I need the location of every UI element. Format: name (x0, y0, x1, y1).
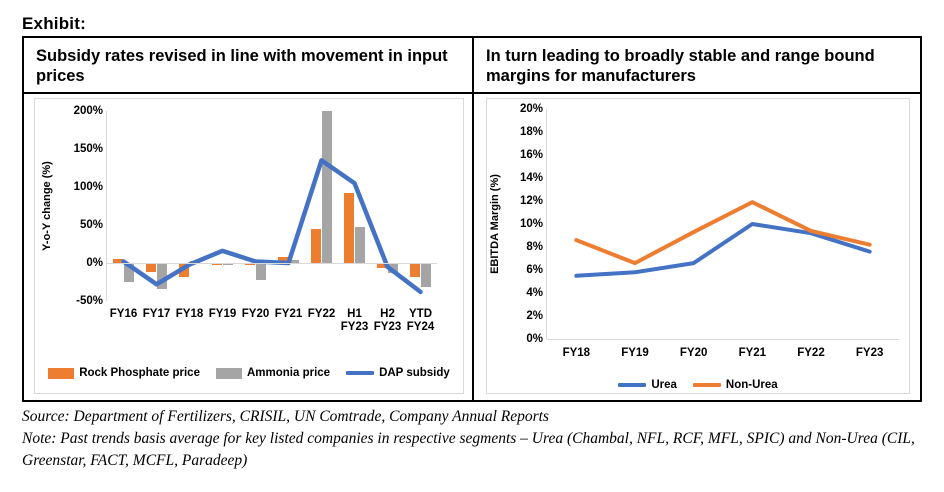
x-tick-line: FY23 (374, 321, 402, 333)
x-tick-line: FY21 (739, 347, 767, 359)
x-tick-line: FY18 (563, 347, 591, 359)
exhibit-frame: Subsidy rates revised in line with movem… (22, 36, 922, 402)
panel-left-title: Subsidy rates revised in line with movem… (24, 38, 472, 94)
y-axis-line (106, 111, 107, 301)
y-tick-label: 6% (526, 264, 543, 276)
x-tick-line: FY20 (680, 347, 708, 359)
legend-line-swatch (693, 383, 721, 387)
footer-source: Source: Department of Fertilizers, CRISI… (22, 406, 926, 428)
x-tick-line: FY21 (275, 308, 303, 320)
x-tick-label: FY19 (206, 308, 239, 321)
x-tick-label: YTDFY24 (404, 308, 437, 334)
x-tick-label: FY18 (547, 347, 606, 360)
legend-label: Rock Phosphate price (79, 367, 200, 379)
legend-label: Non-Urea (726, 379, 778, 391)
left-chart-plot-area (107, 111, 437, 301)
legend-bar-swatch (48, 368, 74, 379)
legend-line-swatch (346, 371, 374, 375)
right-chart-y-ticks: 0%2%4%6%8%10%12%14%16%18%20% (487, 109, 543, 339)
x-tick-label: FY21 (723, 347, 782, 360)
y-tick-label: 0% (86, 257, 103, 269)
right-chart-x-ticks: FY18FY19FY20FY21FY22FY23 (547, 347, 899, 381)
legend-item-non-urea[interactable]: Non-Urea (693, 379, 778, 391)
right-chart-legend: UreaNon-Urea (487, 379, 909, 391)
left-chart-x-ticks: FY16FY17FY18FY19FY20FY21FY22H1FY23H2FY23… (107, 308, 437, 342)
x-tick-label: H2FY23 (371, 308, 404, 334)
exhibit-label: Exhibit: (22, 14, 86, 34)
y-axis-line (546, 109, 547, 339)
y-tick-label: 10% (520, 218, 543, 230)
x-tick-line: FY22 (797, 347, 825, 359)
left-chart-y-ticks: -50%0%50%100%150%200% (35, 111, 103, 301)
x-tick-line: FY19 (621, 347, 649, 359)
x-tick-line: FY23 (856, 347, 884, 359)
zero-baseline (547, 339, 899, 340)
y-tick-label: 20% (520, 103, 543, 115)
legend-item-urea[interactable]: Urea (618, 379, 677, 391)
legend-label: Ammonia price (247, 367, 330, 379)
right-chart-plot-area (547, 109, 899, 339)
legend-label: DAP subsidy (379, 367, 450, 379)
footer: Source: Department of Fertilizers, CRISI… (22, 406, 926, 472)
x-tick-line: FY19 (209, 308, 237, 320)
x-tick-line: FY23 (341, 321, 369, 333)
y-tick-label: -50% (76, 295, 103, 307)
line-dap-subsidy (124, 160, 421, 291)
footer-note: Note: Past trends basis average for key … (22, 428, 926, 472)
zero-baseline (107, 263, 437, 264)
y-tick-label: 4% (526, 287, 543, 299)
y-tick-label: 50% (80, 219, 103, 231)
left-chart-legend: Rock Phosphate priceAmmonia priceDAP sub… (35, 367, 463, 379)
y-tick-label: 2% (526, 310, 543, 322)
legend-item-ammonia-price[interactable]: Ammonia price (216, 367, 330, 379)
y-tick-label: 200% (74, 105, 103, 117)
legend-bar-swatch (216, 368, 242, 379)
x-tick-label: FY23 (840, 347, 899, 360)
line-urea (576, 224, 869, 276)
legend-item-dap-subsidy[interactable]: DAP subsidy (346, 367, 450, 379)
x-tick-line: FY18 (176, 308, 204, 320)
legend-line-swatch (618, 383, 646, 387)
legend-label: Urea (651, 379, 677, 391)
y-tick-label: 100% (74, 181, 103, 193)
y-tick-label: 16% (520, 149, 543, 161)
x-tick-line: FY24 (407, 321, 435, 333)
y-tick-label: 150% (74, 143, 103, 155)
x-tick-label: FY22 (782, 347, 841, 360)
panel-left: Subsidy rates revised in line with movem… (24, 38, 474, 400)
chart-ebitda-margins: EBITDA Margin (%) 0%2%4%6%8%10%12%14%16%… (486, 98, 910, 394)
panel-right-title: In turn leading to broadly stable and ra… (474, 38, 920, 94)
x-tick-line: FY16 (110, 308, 138, 320)
line-non-urea (576, 202, 869, 263)
y-tick-label: 12% (520, 195, 543, 207)
x-tick-line: FY17 (143, 308, 171, 320)
chart-subsidy-input-prices: Y-o-Y change (%) -50%0%50%100%150%200% F… (34, 98, 464, 394)
x-tick-label: FY20 (664, 347, 723, 360)
x-tick-line: FY20 (242, 308, 270, 320)
x-tick-line: H2 (380, 308, 395, 320)
x-tick-line: FY22 (308, 308, 336, 320)
x-tick-label: FY22 (305, 308, 338, 321)
y-tick-label: 14% (520, 172, 543, 184)
x-tick-line: YTD (409, 308, 432, 320)
x-tick-line: H1 (347, 308, 362, 320)
x-tick-label: FY17 (140, 308, 173, 321)
panel-right: In turn leading to broadly stable and ra… (474, 38, 920, 400)
x-tick-label: FY19 (606, 347, 665, 360)
line-series-layer (547, 109, 899, 339)
x-tick-label: H1FY23 (338, 308, 371, 334)
y-tick-label: 18% (520, 126, 543, 138)
y-tick-label: 8% (526, 241, 543, 253)
exhibit-page: Exhibit: Subsidy rates revised in line w… (0, 0, 944, 492)
x-tick-label: FY18 (173, 308, 206, 321)
legend-item-rock-phosphate-price[interactable]: Rock Phosphate price (48, 367, 200, 379)
x-tick-label: FY20 (239, 308, 272, 321)
y-tick-label: 0% (526, 333, 543, 345)
x-tick-label: FY21 (272, 308, 305, 321)
x-tick-label: FY16 (107, 308, 140, 321)
line-series-layer (107, 111, 437, 301)
